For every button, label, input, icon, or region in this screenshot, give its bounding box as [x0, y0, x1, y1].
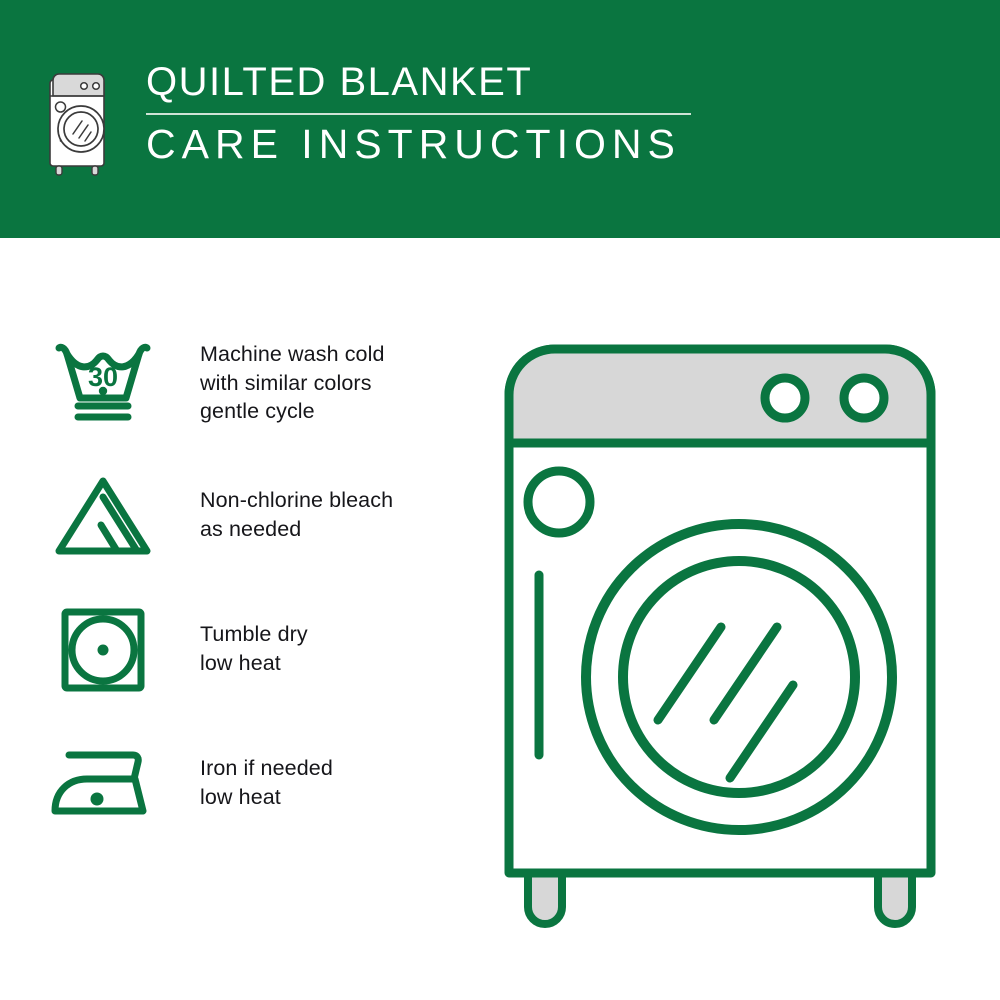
iron-low-heat-icon	[47, 743, 159, 825]
wash-tub-30-icon: 30	[47, 336, 159, 428]
dry-heat-dot	[98, 645, 109, 656]
care-line: Tumble dry	[200, 620, 308, 649]
care-line: as needed	[200, 515, 393, 544]
care-icon-slot	[44, 464, 162, 568]
leg-right	[878, 873, 912, 924]
care-instruction-list: 30 Machine wash cold with similar colors…	[44, 330, 474, 836]
care-row-tumble-dry: Tumble dry low heat	[44, 598, 474, 702]
care-line: Machine wash cold	[200, 340, 385, 369]
knob-left[interactable]	[765, 378, 805, 418]
care-row-bleach: Non-chlorine bleach as needed	[44, 464, 474, 568]
wash-dot	[99, 387, 107, 395]
washing-machine-graphic	[495, 335, 965, 935]
title-divider	[146, 113, 691, 115]
care-text-tumble-dry: Tumble dry low heat	[200, 598, 308, 677]
care-text-bleach: Non-chlorine bleach as needed	[200, 464, 393, 543]
header-content: QUILTED BLANKET CARE INSTRUCTIONS	[44, 60, 744, 185]
care-line: Iron if needed	[200, 754, 333, 783]
header-title-block: QUILTED BLANKET CARE INSTRUCTIONS	[146, 60, 744, 165]
tumble-dry-low-icon	[55, 602, 151, 698]
indicator-light	[528, 471, 590, 533]
care-icon-slot	[44, 598, 162, 702]
leg-left	[528, 873, 562, 924]
knob-right[interactable]	[844, 378, 884, 418]
page-title-secondary: CARE INSTRUCTIONS	[146, 124, 744, 165]
care-icon-slot: 30	[44, 330, 162, 434]
front-load-washing-machine-illustration	[495, 335, 965, 935]
care-text-machine-wash: Machine wash cold with similar colors ge…	[200, 330, 385, 426]
iron-heat-dot	[91, 793, 104, 806]
care-icon-slot	[44, 732, 162, 836]
header-banner: QUILTED BLANKET CARE INSTRUCTIONS	[0, 0, 1000, 238]
page-title-primary: QUILTED BLANKET	[146, 62, 744, 102]
washing-machine-icon	[44, 62, 116, 180]
care-line: low heat	[200, 783, 333, 812]
care-line: low heat	[200, 649, 308, 678]
care-row-iron: Iron if needed low heat	[44, 732, 474, 836]
care-line: gentle cycle	[200, 397, 385, 426]
non-chlorine-bleach-triangle-icon	[49, 471, 157, 561]
care-row-machine-wash: 30 Machine wash cold with similar colors…	[44, 330, 474, 434]
care-line: with similar colors	[200, 369, 385, 398]
care-line: Non-chlorine bleach	[200, 486, 393, 515]
care-text-iron: Iron if needed low heat	[200, 732, 333, 811]
